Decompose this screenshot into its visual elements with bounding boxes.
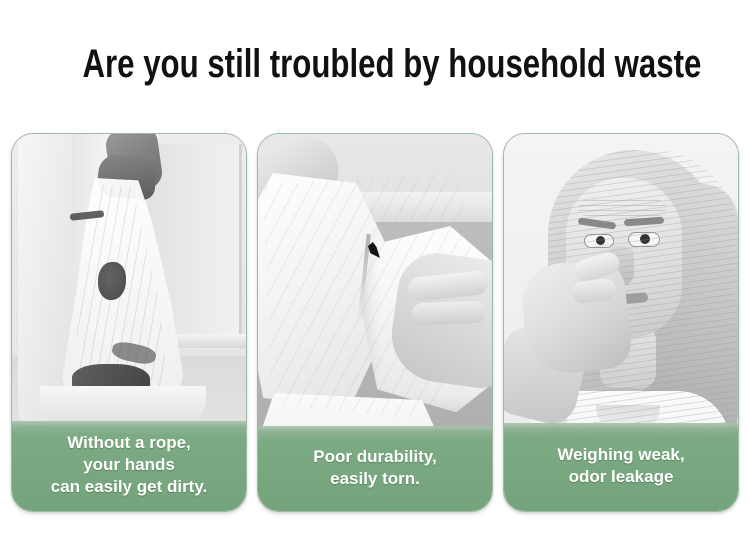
caption-line: your hands (83, 454, 175, 476)
caption-line: odor leakage (569, 466, 674, 488)
problem-card-no-rope[interactable]: Without a rope, your hands can easily ge… (11, 133, 247, 512)
page-title: Are you still troubled by household wast… (83, 42, 668, 86)
caption-line: Without a rope, (67, 432, 191, 454)
waste-debris-shape (98, 262, 126, 300)
card-caption: Weighing weak, odor leakage (504, 423, 738, 511)
problem-card-row: Without a rope, your hands can easily ge… (11, 133, 739, 513)
caption-line: can easily get dirty. (51, 476, 208, 498)
finger-shape (412, 301, 487, 326)
promo-banner: Are you still troubled by household wast… (0, 0, 750, 535)
problem-card-poor-durability[interactable]: Poor durability, easily torn. (257, 133, 493, 512)
problem-card-odor-leakage[interactable]: Weighing weak, odor leakage (503, 133, 739, 512)
card-caption: Poor durability, easily torn. (258, 426, 492, 511)
caption-line: easily torn. (330, 468, 420, 490)
card-caption: Without a rope, your hands can easily ge… (12, 421, 246, 511)
caption-line: Weighing weak, (557, 444, 684, 466)
caption-line: Poor durability, (313, 446, 436, 468)
